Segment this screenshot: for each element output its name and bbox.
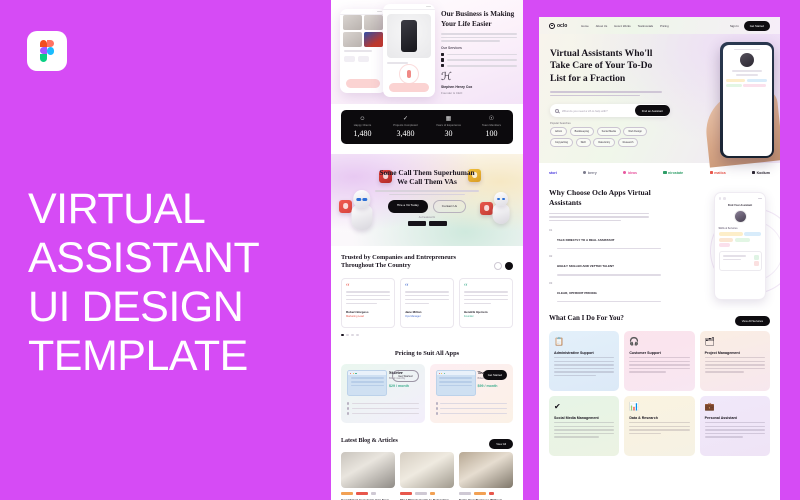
phone-chip <box>726 79 746 82</box>
nav-item-home[interactable]: Home <box>581 24 588 28</box>
text-line <box>352 403 419 404</box>
skill-chip[interactable] <box>744 232 761 236</box>
blog-tag <box>400 492 412 494</box>
phone-skill-chips <box>719 232 762 247</box>
blog-card[interactable]: The Ultimate Guide to Delegating Your Da… <box>400 452 454 500</box>
service-card[interactable]: ✔ Social Media Management <box>549 396 619 456</box>
text-line <box>554 426 614 427</box>
search-tag[interactable]: Admin <box>550 127 567 136</box>
blog-tag <box>474 492 486 494</box>
text-line <box>705 364 765 365</box>
pricing-card: Starter Billed monthly $29 / month Get S… <box>341 364 425 423</box>
blog-tag <box>430 492 435 494</box>
text-line <box>705 422 765 423</box>
text-line <box>464 295 508 296</box>
text-line <box>440 413 507 414</box>
hero-phone-mockup <box>720 42 774 158</box>
why-choose-section: Why Choose Oclo Apps Virtual Assistants … <box>539 182 780 310</box>
trusted-section: Trusted by Companies and Entrepreneurs T… <box>331 246 523 342</box>
why-phone-mockup: Find Your Assistant Skills & Services <box>714 192 766 300</box>
search-tag[interactable]: Social Media <box>597 127 621 136</box>
logo-text: stori <box>549 171 557 175</box>
view-all-services-button[interactable]: View All Services <box>735 316 770 326</box>
mobile-design-preview: Our Business is Making Your Life Easier … <box>331 0 523 500</box>
signature-mark: ℋ <box>441 72 517 82</box>
text-line <box>352 408 419 409</box>
feature-number: 02 <box>549 254 554 275</box>
microphone-icon <box>399 64 419 84</box>
text-line <box>464 299 508 300</box>
blog-tags <box>459 492 513 494</box>
window-body <box>348 377 386 386</box>
signature-name: Stephen Henry Cox <box>441 85 517 89</box>
briefcase-icon: 💼 <box>705 402 765 411</box>
text-line <box>705 426 765 427</box>
text-line <box>439 385 472 387</box>
prev-arrow-icon[interactable] <box>494 262 502 270</box>
mockup-titlebar <box>383 4 435 10</box>
text-line <box>629 422 689 423</box>
blog-tags <box>400 492 454 494</box>
brand-name: oclo <box>557 23 567 29</box>
text-line <box>352 413 419 414</box>
pricing-section: Pricing to Suit All Apps Starter Billed … <box>331 342 523 431</box>
search-tag[interactable]: Copywriting <box>550 138 573 147</box>
carousel-arrows[interactable] <box>494 262 513 270</box>
feature-title: TALK DIRECTLY TO A REAL ASSISTANT <box>557 238 614 242</box>
quote-icon: “ <box>346 284 390 289</box>
plan-feature <box>436 402 508 404</box>
logo-mark-icon <box>710 171 713 174</box>
feature-number: 01 <box>549 228 554 249</box>
logo-text: nirostate <box>668 171 683 175</box>
text-line <box>405 303 429 304</box>
search-tag[interactable]: SEO <box>576 138 591 147</box>
phone-message-box <box>719 251 762 271</box>
calendar-icon: ▦ <box>427 116 470 123</box>
service-card[interactable]: 🎧 Customer Support <box>624 331 694 391</box>
testimonial-role: Founder <box>464 315 508 318</box>
avatar <box>734 210 747 223</box>
blog-section: Latest Blog & Articles View All How Virt… <box>331 431 523 500</box>
client-logo-nirostate: nirostate <box>663 171 683 175</box>
stat-item: ✓ Projects Completed 3,480 <box>384 116 427 139</box>
app-mockup-card-1 <box>340 9 386 93</box>
hero-heading-line-2: Take Care of Your To-Do <box>550 60 670 72</box>
toolbar-dot <box>723 197 726 200</box>
window-titlebar <box>437 371 475 375</box>
text-line <box>629 357 689 358</box>
carousel-dot[interactable] <box>351 334 354 337</box>
superhuman-paragraph <box>375 190 479 195</box>
window-dot <box>439 373 440 374</box>
text-line <box>441 37 517 39</box>
popular-search-tags: Admin Bookkeeping Social Media Web Desig… <box>550 127 672 147</box>
superhuman-heading-line-2: We Call Them VAs <box>331 177 523 186</box>
text-line <box>554 433 614 434</box>
text-line <box>705 436 744 437</box>
logo-mark-icon <box>583 171 586 174</box>
phone-chips-label: Skills & Services <box>719 227 762 230</box>
plan-feature <box>347 402 419 404</box>
text-line <box>440 403 507 404</box>
window-dot <box>353 373 354 374</box>
feature-title: HIGHLY SKILLED AND VETTED TALENT <box>557 264 614 268</box>
text-line <box>441 33 517 35</box>
hero-heading-line-1: Virtual Assistants Who'll <box>550 48 670 60</box>
search-tag[interactable]: Data Entry <box>593 138 615 147</box>
text-line <box>629 433 660 434</box>
client-logo-ideas: ideas <box>623 171 637 175</box>
view-all-blog-button[interactable]: View All <box>489 439 513 449</box>
text-line <box>554 422 614 423</box>
site-navbar: oclo Home About Us How it Works Testimon… <box>539 17 780 34</box>
service-card[interactable]: 💼 Personal Assistant <box>700 396 770 456</box>
text-line <box>440 408 507 409</box>
feature-number: 03 <box>549 281 554 302</box>
pricing-card: Team Billed monthly $99 / month Get Star… <box>430 364 514 423</box>
text-line <box>464 303 491 304</box>
press-logo <box>429 221 447 226</box>
phone-screen <box>723 45 772 156</box>
featured-logos <box>331 221 523 226</box>
award-icon: ☉ <box>470 116 513 123</box>
blog-thumbnail <box>459 452 513 488</box>
blog-thumbnail <box>400 452 454 488</box>
text-line <box>554 364 614 365</box>
page-title: VIRTUAL ASSISTANT UI DESIGN TEMPLATE <box>28 185 308 381</box>
text-line <box>734 49 760 51</box>
nav-item-how-it-works[interactable]: How it Works <box>614 24 630 28</box>
figma-blue-shape <box>47 47 54 54</box>
mockup-chip-row <box>344 56 382 62</box>
figma-green-shape <box>40 54 47 61</box>
mockup-image-row <box>343 32 383 47</box>
stats-bar: ☺ Happy Clients 1,480 ✓ Projects Complet… <box>341 110 513 144</box>
stat-item: ☺ Happy Clients 1,480 <box>341 116 384 139</box>
nav-item-about[interactable]: About Us <box>596 24 608 28</box>
hero-subtext <box>550 91 662 98</box>
text-line <box>554 357 614 358</box>
stat-value: 3,480 <box>384 129 427 138</box>
text-line <box>351 381 384 383</box>
text-line <box>705 368 765 369</box>
superhuman-heading: Some Call Them Superhuman We Call Them V… <box>331 168 523 187</box>
quote-icon: “ <box>405 284 449 289</box>
testimonial-list: “ Robert Borgess Marketing Lead “ Jane M… <box>341 278 513 328</box>
stat-label: Years of Experience <box>427 124 470 127</box>
nav-items: Home About Us How it Works Testimonials … <box>581 24 668 28</box>
text-line <box>554 361 614 362</box>
service-body <box>629 357 689 373</box>
bullet-marker <box>347 407 349 409</box>
plan-feature <box>436 412 508 414</box>
testimonial-name: Jane Milton <box>405 310 449 314</box>
service-body <box>705 357 765 373</box>
hero-heading: Virtual Assistants Who'll Take Care of Y… <box>550 48 670 85</box>
logo-text: matica <box>714 171 725 175</box>
desktop-hero-section: Virtual Assistants Who'll Take Care of Y… <box>539 34 780 163</box>
text-line <box>557 274 661 275</box>
service-title: Customer Support <box>629 351 689 355</box>
text-line <box>346 303 377 304</box>
text-line <box>447 59 517 61</box>
text-line <box>554 429 614 430</box>
skill-chip[interactable] <box>719 243 730 247</box>
text-line <box>464 291 508 292</box>
text-line <box>389 194 466 196</box>
service-body <box>554 422 614 438</box>
carousel-dot[interactable] <box>346 334 349 337</box>
logo-mark-icon <box>663 171 666 174</box>
find-assistant-button[interactable]: Find an Assistant <box>635 105 670 116</box>
app-mockup-card-2 <box>383 4 435 97</box>
mobile-hero-paragraph <box>441 33 517 42</box>
services-section: What Can I Do For You? View All Services… <box>539 310 780 466</box>
text-line <box>405 299 449 300</box>
mockup-image-row <box>343 15 383 30</box>
text-line <box>554 368 614 369</box>
blog-tag <box>371 492 376 494</box>
feature-item: 03 CLEAR, UPFRONT PRICING <box>549 281 661 302</box>
stats-section: ☺ Happy Clients 1,480 ✓ Projects Complet… <box>331 104 523 154</box>
figma-glyph <box>40 40 55 62</box>
phone-toolbar <box>719 197 762 200</box>
chart-icon: 📊 <box>629 402 689 411</box>
figma-red-shape <box>47 40 54 47</box>
bullet-item <box>441 64 517 67</box>
service-body <box>554 357 614 376</box>
oclo-mark-icon <box>549 23 555 29</box>
phone-chip <box>726 84 742 87</box>
title-line-2: ASSISTANT <box>28 234 308 283</box>
text-line <box>447 54 517 56</box>
window-dot <box>444 373 445 374</box>
text-line <box>447 65 517 67</box>
bullet-marker <box>436 402 438 404</box>
bullet-marker <box>436 412 438 414</box>
text-line <box>554 436 599 437</box>
featured-in-block: As Featured In <box>331 216 523 226</box>
clipboard-icon: 📋 <box>554 337 614 346</box>
service-card[interactable]: 🗂 Project Management <box>700 331 770 391</box>
service-title: Social Media Management <box>554 416 614 420</box>
plan-features <box>347 402 419 414</box>
stat-value: 1,480 <box>341 129 384 138</box>
blog-tag <box>489 492 494 494</box>
text-line <box>629 429 689 430</box>
text-line <box>351 385 384 387</box>
stat-label: Projects Completed <box>384 124 427 127</box>
skill-chip[interactable] <box>719 238 734 242</box>
text-line <box>550 91 662 93</box>
mockup-thumb <box>364 32 383 47</box>
plan-cta-button[interactable]: Get Started <box>392 370 418 381</box>
user-icon: ☺ <box>341 116 384 123</box>
text-line <box>554 375 596 376</box>
plan-screenshot <box>347 370 387 396</box>
service-card[interactable]: 📊 Data & Research <box>624 396 694 456</box>
stat-value: 100 <box>470 129 513 138</box>
hero-heading-line-3: List for a Fraction <box>550 73 670 85</box>
text-line <box>375 190 479 192</box>
skill-chip[interactable] <box>735 238 750 242</box>
popular-searches-label: Popular Searches <box>550 122 571 125</box>
desktop-design-preview: oclo Home About Us How it Works Testimon… <box>539 17 780 500</box>
services-grid: 📋 Administrative Support 🎧 Customer Supp… <box>549 331 770 456</box>
mockup-titlebar <box>340 9 386 15</box>
bullet-marker <box>441 53 444 56</box>
text-line <box>346 299 390 300</box>
service-title: Data & Research <box>629 416 689 420</box>
service-title: Administrative Support <box>554 351 614 355</box>
blog-tag <box>356 492 368 494</box>
service-title: Personal Assistant <box>705 416 765 420</box>
quote-icon: “ <box>464 284 508 289</box>
next-arrow-icon[interactable] <box>505 262 513 270</box>
text-line <box>629 371 665 372</box>
search-tag[interactable]: Research <box>618 138 639 147</box>
mockup-cta-button[interactable] <box>346 79 380 88</box>
mockup-thumb <box>364 15 383 30</box>
mockup-cta-button[interactable] <box>389 83 429 92</box>
logo-mark-icon <box>623 171 626 174</box>
window-dot <box>355 373 356 374</box>
search-icon <box>555 109 559 113</box>
phone-chip-row <box>726 79 769 87</box>
service-title: Project Management <box>705 351 765 355</box>
figma-purple-shape <box>40 47 47 54</box>
accept-icon[interactable] <box>754 255 759 260</box>
text-line <box>705 433 765 434</box>
plan-price: $29 / month <box>389 384 419 388</box>
service-card[interactable]: 📋 Administrative Support <box>549 331 619 391</box>
figma-logo-icon <box>27 31 67 71</box>
mockup-product-image <box>387 14 431 58</box>
poster-canvas: VIRTUAL ASSISTANT UI DESIGN TEMPLATE <box>0 0 800 500</box>
skill-chip[interactable] <box>719 232 743 236</box>
plan-price: $99 / month <box>478 384 508 388</box>
blog-tags <box>341 492 395 494</box>
text-line <box>441 40 500 42</box>
stat-item: ▦ Years of Experience 30 <box>427 116 470 139</box>
sign-in-link[interactable]: Sign In <box>730 24 739 28</box>
get-started-button[interactable]: Get Started <box>744 21 770 31</box>
stat-value: 30 <box>427 129 470 138</box>
blog-heading: Latest Blog & Articles <box>341 437 459 445</box>
blog-list: How Virtual Assistants Can Save You Time… <box>341 452 513 500</box>
mic-body <box>407 70 411 78</box>
logo-mark-icon <box>752 171 755 174</box>
bullet-item <box>441 58 517 61</box>
text-line <box>723 255 747 256</box>
check-icon: ✓ <box>384 116 427 123</box>
plan-cta-button[interactable]: Get Started <box>483 370 507 379</box>
bullet-marker <box>436 407 438 409</box>
text-line <box>705 357 765 358</box>
nav-item-pricing[interactable]: Pricing <box>660 24 669 28</box>
contact-us-button[interactable]: Contact Us <box>433 200 466 213</box>
search-tag[interactable]: Bookkeeping <box>570 127 594 136</box>
plan-screenshot <box>436 370 476 396</box>
client-logo-kodium: Kodium <box>752 171 770 175</box>
bullet-item <box>441 53 517 56</box>
trusted-heading: Trusted by Companies and Entrepreneurs T… <box>341 254 459 271</box>
mockup-chip <box>358 56 369 62</box>
text-line <box>549 213 649 215</box>
testimonial-card: “ Jane Milton Ops Manager <box>400 278 454 328</box>
plan-features <box>436 402 508 414</box>
logo-text: ideas <box>628 171 637 175</box>
headset-icon: 🎧 <box>629 337 689 346</box>
decline-icon[interactable] <box>754 261 759 266</box>
window-body <box>437 377 475 386</box>
bullet-marker <box>347 402 349 404</box>
brand-logo[interactable]: oclo <box>549 23 567 29</box>
text-line <box>736 74 758 76</box>
pricing-plans: Starter Billed monthly $29 / month Get S… <box>341 364 513 423</box>
blog-tag <box>459 492 471 494</box>
title-line-1: VIRTUAL <box>28 185 308 234</box>
search-tag[interactable]: Web Design <box>623 127 647 136</box>
hire-va-button[interactable]: Hire a VA Today <box>388 200 428 213</box>
feature-item: 01 TALK DIRECTLY TO A REAL ASSISTANT <box>549 228 661 249</box>
signature-role: Founder & CEO <box>441 91 517 95</box>
text-line <box>723 259 741 260</box>
mockup-thumb <box>343 15 362 30</box>
testimonial-card: “ Robert Borgess Marketing Lead <box>341 278 395 328</box>
phone-title: Find Your Assistant <box>719 204 762 207</box>
bullet-marker <box>441 64 444 67</box>
text-line <box>549 220 621 222</box>
blog-tag <box>415 492 427 494</box>
logo-text: berry <box>588 171 597 175</box>
plan-feature <box>347 407 419 409</box>
nav-actions: Sign In Get Started <box>730 21 770 31</box>
blog-card[interactable]: Scale Your Business Without Growing Head… <box>459 452 513 500</box>
blog-tag <box>341 492 353 494</box>
superhuman-actions: Hire a VA Today Contact Us <box>331 200 523 213</box>
text-line <box>705 361 765 362</box>
text-line <box>629 368 689 369</box>
hero-search-bar[interactable]: What do you need a VA to help with? Find… <box>550 104 670 117</box>
nav-item-testimonials[interactable]: Testimonials <box>638 24 653 28</box>
check-badge-icon: ✔ <box>554 402 614 411</box>
carousel-dot[interactable] <box>341 334 344 337</box>
mobile-hero-section: Our Business is Making Your Life Easier … <box>331 0 523 104</box>
why-choose-heading: Why Choose Oclo Apps Virtual Assistants <box>549 188 655 208</box>
phone-chip <box>747 79 767 82</box>
carousel-dots[interactable] <box>341 334 513 337</box>
text-line <box>405 291 449 292</box>
blog-thumbnail <box>341 452 395 488</box>
stat-item: ☉ Team Members 100 <box>470 116 513 139</box>
text-line <box>346 295 390 296</box>
mobile-hero-copy: Our Business is Making Your Life Easier … <box>441 10 517 95</box>
blog-card[interactable]: How Virtual Assistants Can Save You Time… <box>341 452 395 500</box>
feature-title: CLEAR, UPFRONT PRICING <box>557 291 597 295</box>
testimonial-role: Ops Manager <box>405 315 449 318</box>
text-line <box>732 70 762 72</box>
why-choose-paragraph <box>549 213 649 222</box>
title-line-3: UI DESIGN <box>28 283 308 332</box>
stat-label: Team Members <box>470 124 513 127</box>
window-dot <box>441 373 442 374</box>
search-input[interactable]: What do you need a VA to help with? <box>562 109 608 113</box>
client-logo-stori: stori <box>549 171 557 175</box>
mobile-hero-heading: Our Business is Making Your Life Easier <box>441 10 517 29</box>
carousel-dot[interactable] <box>356 334 359 337</box>
